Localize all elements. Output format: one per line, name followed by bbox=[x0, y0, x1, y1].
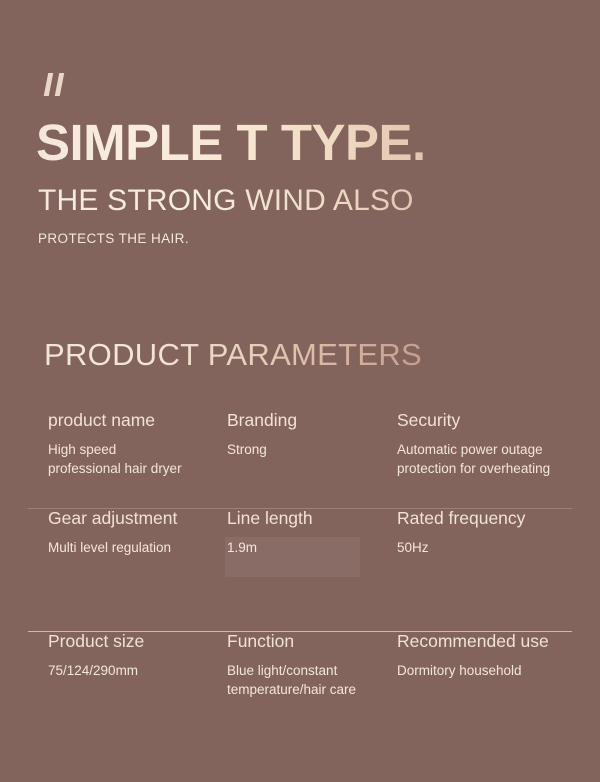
spec-row: Gear adjustment Multi level regulation L… bbox=[0, 508, 600, 631]
section-title-product-parameters: PRODUCT PARAMETERS bbox=[44, 337, 422, 373]
spec-cell-recommended-use: Recommended use Dormitory household bbox=[397, 631, 597, 731]
spec-cell-function: Function Blue light/constanttemperature/… bbox=[227, 631, 397, 731]
hero-title-primary: SIMPLE T TYPE. bbox=[36, 116, 576, 170]
hero-headline-block: SIMPLE T TYPE. THE STRONG WIND ALSO PROT… bbox=[36, 116, 576, 246]
spec-label: Product size bbox=[48, 631, 227, 652]
spec-table: product name High speedprofessional hair… bbox=[0, 410, 600, 731]
spec-value: 1.9m bbox=[227, 538, 397, 557]
spec-cell-security: Security Automatic power outageprotectio… bbox=[397, 410, 597, 508]
spec-value: Multi level regulation bbox=[48, 538, 227, 557]
hero-title-tertiary: PROTECTS THE HAIR. bbox=[38, 231, 576, 246]
spec-value: Automatic power outageprotection for ove… bbox=[397, 440, 582, 478]
spec-value: Blue light/constanttemperature/hair care bbox=[227, 661, 397, 699]
spec-cell-product-name: product name High speedprofessional hair… bbox=[48, 410, 227, 508]
spec-cell-branding: Branding Strong bbox=[227, 410, 397, 508]
spec-label: Rated frequency bbox=[397, 508, 597, 529]
spec-label: Branding bbox=[227, 410, 397, 431]
spec-row: Product size 75/124/290mm Function Blue … bbox=[0, 631, 600, 731]
spec-cell-line-length: Line length 1.9m bbox=[227, 508, 397, 631]
spec-cell-product-size: Product size 75/124/290mm bbox=[48, 631, 227, 731]
hero-title-secondary: THE STRONG WIND ALSO bbox=[38, 184, 576, 217]
spec-value: Strong bbox=[227, 440, 397, 459]
spec-label: Function bbox=[227, 631, 397, 652]
quote-mark-icon bbox=[44, 73, 70, 97]
spec-label: Line length bbox=[227, 508, 397, 529]
spec-divider bbox=[28, 508, 572, 509]
spec-value: High speedprofessional hair dryer bbox=[48, 440, 227, 478]
product-parameters-poster: SIMPLE T TYPE. THE STRONG WIND ALSO PROT… bbox=[0, 0, 600, 782]
spec-value: Dormitory household bbox=[397, 661, 582, 680]
spec-divider bbox=[28, 631, 572, 632]
spec-cell-gear-adjustment: Gear adjustment Multi level regulation bbox=[48, 508, 227, 631]
spec-value: 50Hz bbox=[397, 538, 582, 557]
spec-label: Gear adjustment bbox=[48, 508, 227, 529]
spec-cell-rated-frequency: Rated frequency 50Hz bbox=[397, 508, 597, 631]
spec-value: 75/124/290mm bbox=[48, 661, 227, 680]
spec-label: product name bbox=[48, 410, 227, 431]
spec-row: product name High speedprofessional hair… bbox=[0, 410, 600, 508]
spec-label: Security bbox=[397, 410, 597, 431]
spec-label: Recommended use bbox=[397, 631, 597, 652]
